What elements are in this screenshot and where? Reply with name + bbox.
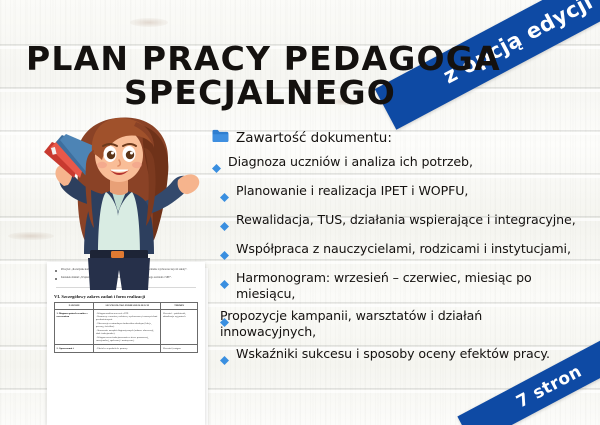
- table-header-row: ZADANIE SZCZEGÓŁOWA FORMA REALIZACJI TER…: [55, 302, 198, 309]
- pants: [88, 258, 150, 290]
- table-header-cell: TERMIN: [161, 302, 198, 309]
- table-cell-task: 2. Opracowanie i: [55, 345, 94, 352]
- belt-buckle: [111, 251, 124, 258]
- document-preview-section-heading: VI. Szczegółowy zakres zadań i form real…: [54, 294, 198, 299]
- title-line-1: PLAN PRACY PEDAGOGA: [26, 42, 494, 76]
- poster-canvas: PLAN PRACY PEDAGOGA SPECJALNEGO: [0, 0, 600, 425]
- content-item-list: Diagnoza uczniów i analiza ich potrzeb, …: [212, 154, 590, 369]
- list-item: Harmonogram: wrzesień – czerwiec, miesią…: [212, 270, 590, 302]
- form-line: - Obserwacja w naturalnym środowisku szk…: [96, 322, 159, 329]
- list-item: Diagnoza uczniów i analiza ich potrzeb,: [212, 154, 590, 177]
- diamond-bullet-icon: [220, 274, 229, 293]
- right-pupil: [126, 151, 134, 159]
- folder-icon: [212, 128, 229, 147]
- document-preview-table: ZADANIE SZCZEGÓŁOWA FORMA REALIZACJI TER…: [54, 302, 198, 353]
- content-section: Zawartość dokumentu: Diagnoza uczniów i …: [212, 128, 590, 375]
- table-cell-term: Wrzesień – październik, aktualizacja wg …: [161, 310, 198, 345]
- list-item-label: Wskaźniki sukcesu i sposoby oceny efektó…: [236, 346, 550, 362]
- right-eye-glint: [130, 152, 133, 155]
- form-line: - Wstępna ocena funkcjonowania w sferze …: [96, 336, 159, 343]
- table-cell-forms: - Wstępna analiza orzeczeń z PPP. - Rozm…: [94, 310, 161, 345]
- table-header-cell: SZCZEGÓŁOWA FORMA REALIZACJI: [94, 302, 161, 309]
- left-pupil: [107, 151, 115, 159]
- list-item-label: Propozycje kampanii, warsztatów i działa…: [220, 308, 538, 340]
- diamond-bullet-icon: [212, 158, 221, 177]
- content-heading-row: Zawartość dokumentu:: [212, 128, 590, 147]
- teacher-character-illustration: [18, 108, 218, 293]
- list-item-label: Rewalidacja, TUS, działania wspierające …: [236, 212, 576, 228]
- list-item-label: Harmonogram: wrzesień – czerwiec, miesią…: [236, 270, 590, 302]
- list-item-label: Współpraca z nauczycielami, rodzicami i …: [236, 241, 571, 257]
- list-item: Współpraca z nauczycielami, rodzicami i …: [212, 241, 590, 264]
- content-heading-label: Zawartość dokumentu:: [236, 130, 392, 146]
- right-blush: [132, 162, 142, 168]
- diamond-bullet-icon: [220, 216, 229, 235]
- left-eye-glint: [111, 152, 114, 155]
- table-cell-forms: - Udział w zespołach ds. pomocy: [94, 345, 161, 352]
- list-item-label: Planowanie i realizacja IPET i WOPFU,: [236, 183, 468, 199]
- list-item-label: Diagnoza uczniów i analiza ich potrzeb,: [228, 154, 473, 170]
- table-row: 1. Diagnoza potrzeb uczniów z orzeczenie…: [55, 310, 198, 345]
- list-item: Planowanie i realizacja IPET i WOPFU,: [212, 183, 590, 206]
- list-item: Propozycje kampanii, warsztatów i działa…: [212, 308, 590, 340]
- table-cell-term: Wrzesień (wstępne: [161, 345, 198, 352]
- table-cell-task: 1. Diagnoza potrzeb uczniów z orzeczenie…: [55, 310, 94, 345]
- form-line: - Stosowanie narzędzi diagnostycznych (a…: [96, 329, 159, 336]
- poster-title: PLAN PRACY PEDAGOGA SPECJALNEGO: [26, 42, 494, 110]
- table-row: 2. Opracowanie i - Udział w zespołach ds…: [55, 345, 198, 352]
- list-item: Wskaźniki sukcesu i sposoby oceny efektó…: [212, 346, 590, 369]
- left-blush: [97, 162, 107, 168]
- wood-knot: [130, 18, 168, 27]
- diamond-bullet-icon: [220, 350, 229, 369]
- title-line-2: SPECJALNEGO: [26, 76, 494, 110]
- list-item: Rewalidacja, TUS, działania wspierające …: [212, 212, 590, 235]
- diamond-bullet-icon: [220, 245, 229, 264]
- diamond-bullet-icon: [220, 187, 229, 206]
- table-header-cell: ZADANIE: [55, 302, 94, 309]
- form-line: - Rozmowy z uczniem, rodzicem, wychowawc…: [96, 315, 159, 322]
